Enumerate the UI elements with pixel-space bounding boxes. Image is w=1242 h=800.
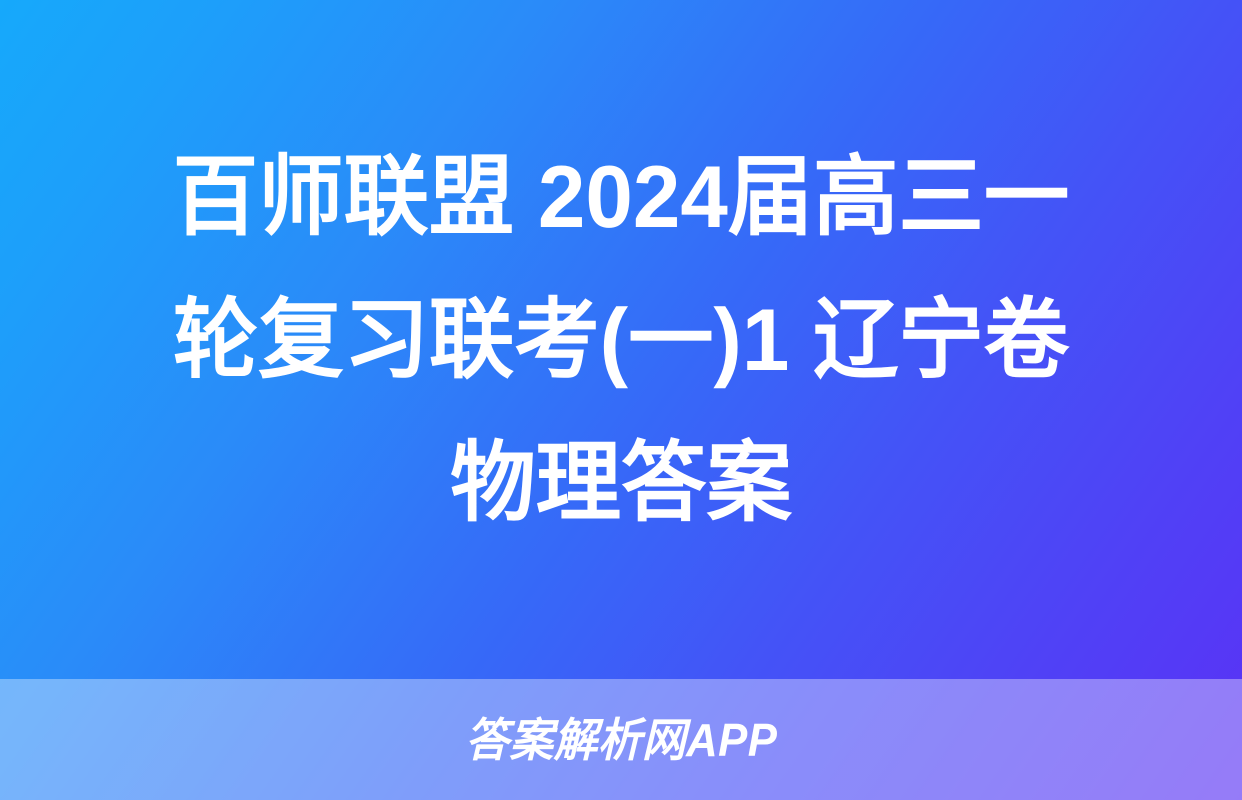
title-line-3: 物理答案 xyxy=(87,411,1156,554)
footer-watermark-band: 答案解析网APP xyxy=(0,679,1242,800)
title-block: 百师联盟 2024届高三一 轮复习联考(一)1 辽宁卷 物理答案 xyxy=(0,0,1242,679)
title-line-2: 轮复习联考(一)1 辽宁卷 xyxy=(87,268,1156,411)
footer-watermark-text: 答案解析网APP xyxy=(465,715,777,765)
cover-banner: 百师联盟 2024届高三一 轮复习联考(一)1 辽宁卷 物理答案 答案解析网AP… xyxy=(0,0,1242,800)
title-line-1: 百师联盟 2024届高三一 xyxy=(87,125,1156,268)
